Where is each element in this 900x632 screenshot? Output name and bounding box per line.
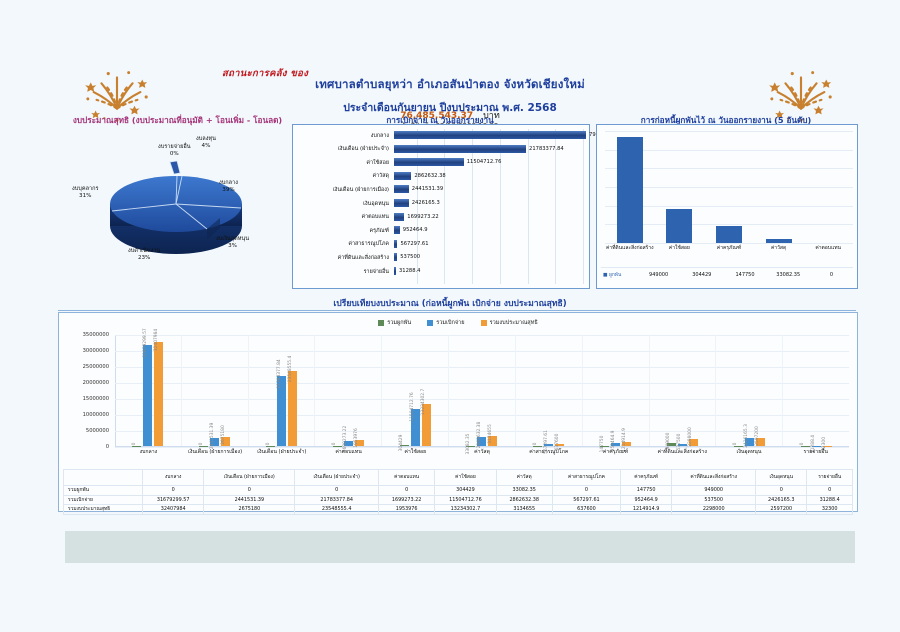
disbursement-row-label: ค่าที่ดินและสิ่งก่อสร้าง (293, 254, 394, 262)
footer-band (65, 531, 855, 563)
bar-value-label: 1953976 (354, 428, 359, 448)
disbursement-bar (394, 158, 464, 166)
bar-fill (143, 345, 152, 446)
table-cell: 0 (552, 486, 620, 496)
disbursement-row: ค่าวัสดุ2862632.38 (293, 171, 585, 182)
bar-group: 031288.432300 (783, 335, 849, 446)
bar-value-label: 2862632.38 (477, 422, 482, 449)
disbursement-value: 567297.61 (400, 240, 428, 248)
pie-label-ngopklang: งบกลาง 39% (219, 180, 238, 194)
bar-value-label: 21783377.84 (277, 360, 282, 389)
disbursement-row-track: 31288.4 (394, 266, 585, 277)
table-cell: 0 (379, 486, 435, 496)
debt-bar (666, 209, 692, 243)
bar-group: 01699273.221953976 (315, 335, 382, 446)
disbursement-value: 31288.4 (399, 267, 420, 275)
table-cell: 33082.35 (496, 486, 552, 496)
table-cell: 11504712.76 (435, 495, 496, 505)
disbursement-row: ครุภัณฑ์952464.9 (293, 225, 585, 236)
disbursement-bar (394, 213, 404, 221)
legend-swatch (427, 320, 433, 326)
comparison-title: เปรียบเทียบงบประมาณ (ก่อหนี้ผูกพัน เบิกจ… (0, 296, 900, 310)
bar: 32407984 (154, 342, 163, 446)
pie-label-damnoen-ngan: งบดำเนินงาน 23% (128, 248, 160, 262)
table-cell: 31288.4 (807, 495, 853, 505)
disbursement-row-track: 2862632.38 (394, 171, 585, 182)
bar-fill (266, 446, 275, 447)
disbursement-row: เงินเดือน (ฝ่ายการเมือง)2441531.39 (293, 184, 585, 195)
bar-value-label: 0 (266, 442, 271, 445)
bar: 23548555.4 (288, 371, 297, 446)
bar-value-label: 32407984 (154, 329, 159, 351)
table-column-header: ค่าครุภัณฑ์ (621, 470, 672, 486)
disbursement-row-label: ค่าวัสดุ (293, 172, 394, 180)
comparison-plot: 031679299.573240798402441531.39267518002… (115, 335, 849, 447)
bar-value-label: 0 (199, 442, 204, 445)
y-tick-label: 20000000 (83, 380, 109, 386)
pie-label-bukkhalakon: งบบุคลากร 31% (72, 186, 99, 200)
table-cell: 949000 (672, 486, 756, 496)
disbursement-row: รายจ่ายอื่น31288.4 (293, 266, 585, 277)
debt-legend-values: 94900030442914775033082.350 (637, 272, 853, 278)
x-tick-label: เงินอุดหนุน (716, 449, 783, 469)
disbursement-row-track: 79299.57 (394, 130, 585, 141)
table-cell: 2298000 (672, 505, 756, 515)
disbursement-value: 2441531.39 (412, 185, 443, 193)
bar: 2298000 (689, 439, 698, 446)
table-row: รวมผูกพัน000030442933082.350147750949000… (64, 486, 853, 496)
disbursement-bar (394, 240, 397, 248)
bar: 21783377.84 (277, 376, 286, 446)
disbursement-row-track: 567297.61 (394, 239, 585, 250)
bar-value-label: 2441531.39 (210, 423, 215, 450)
table-cell: 0 (295, 486, 379, 496)
bar-group: 02441531.392675180 (182, 335, 249, 446)
table-row-header: รวมเบิกจ่าย (64, 495, 143, 505)
y-tick-label: 15000000 (83, 396, 109, 402)
bar: 952464.9 (611, 443, 620, 446)
bar: 1214914.9 (622, 442, 631, 446)
bar: 147750 (600, 446, 609, 447)
bar-value-label: 949000 (666, 433, 671, 450)
pie-panel-title: งบประมาณสุทธิ (งบประมาณที่อนุมัติ + โอนเ… (70, 114, 285, 127)
disbursement-row-track: 537500 (394, 252, 585, 263)
debt-x-label: ค่าวัสดุ (754, 245, 804, 265)
disbursement-row-track: 1699273.22 (394, 212, 585, 223)
bar: 13234302.7 (422, 404, 431, 446)
legend-label: รวมผูกพัน (387, 319, 411, 327)
bar-value-label: 3134655 (488, 424, 493, 444)
bar: 31679299.57 (143, 345, 152, 446)
bar: 1699273.22 (344, 441, 353, 446)
disbursement-bar (394, 267, 396, 275)
table-cell: 304429 (435, 486, 496, 496)
table-column-header: เงินเดือน (ฝ่ายประจำ) (295, 470, 379, 486)
bar: 304429 (400, 445, 409, 446)
debt-bar-chart: ค่าที่ดินและสิ่งก่อสร้างค่าใช้สอยค่าครุภ… (596, 124, 858, 289)
table-cell: 32407984 (143, 505, 204, 515)
bar-value-label: 2426165.3 (744, 424, 749, 448)
gridline (115, 447, 849, 448)
table-cell: 21783377.84 (295, 495, 379, 505)
legend-swatch (378, 320, 384, 326)
disbursement-bar (394, 199, 409, 207)
bar-value-label: 0 (132, 442, 137, 445)
table-cell: 1214914.9 (621, 505, 672, 515)
bar-group: 33082.352862632.383134655 (449, 335, 516, 446)
table-cell: 13234302.7 (435, 505, 496, 515)
legend-label: รวมเบิกจ่าย (436, 319, 464, 327)
table-cell: 2675180 (204, 505, 295, 515)
table-column-header: เงินเดือน (ฝ่ายการเมือง) (204, 470, 295, 486)
bar: 0 (266, 446, 275, 447)
debt-x-label: ค่าที่ดินและสิ่งก่อสร้าง (605, 245, 655, 265)
debt-x-label: ค่าครุภัณฑ์ (704, 245, 754, 265)
debt-x-label: ค่าใช้สอย (655, 245, 705, 265)
y-tick-label: 10000000 (83, 412, 109, 418)
disbursement-bar (394, 172, 411, 180)
disbursement-row: ค่าที่ดินและสิ่งก่อสร้าง537500 (293, 252, 585, 263)
bar-fill (533, 446, 542, 447)
bar: 2862632.38 (477, 437, 486, 446)
disbursement-value: 952464.9 (403, 226, 428, 234)
table-column-header: งบกลาง (143, 470, 204, 486)
comparison-x-labels: งบกลางเงินเดือน (ฝ่ายการเมือง)เงินเดือน … (115, 449, 849, 469)
bar-value-label: 0 (533, 442, 538, 445)
bar-group: 147750952464.91214914.9 (583, 335, 650, 446)
bar-value-label: 23548555.4 (288, 355, 293, 382)
debt-legend-value: 0 (810, 272, 853, 278)
table-cell: 0 (143, 486, 204, 496)
debt-bar (716, 226, 742, 243)
disbursement-row-track: 11504712.76 (394, 157, 585, 168)
bar: 32300 (823, 446, 832, 447)
pie-label-rai-chai-uen: งบรายจ่ายอื่น 0% (158, 144, 191, 158)
pie-label-ngoeun-udnun: งบเงินอุดหนุน 3% (216, 236, 249, 250)
disbursement-row-label: ค่าสาธารณูปโภค (293, 240, 394, 248)
net-budget-pie-chart: งบลงทุน 4% งบรายจ่ายอื่น 0% งบกลาง 39% ง… (70, 128, 285, 283)
bar: 0 (533, 446, 542, 447)
table-cell: 637600 (552, 505, 620, 515)
bar-value-label: 0 (332, 442, 337, 445)
table-row-header: รวมงบประมาณสุทธิ (64, 505, 143, 515)
bar-value-label: 2298000 (688, 427, 693, 447)
bar: 0 (132, 446, 141, 447)
bar-value-label: 2597200 (755, 426, 760, 446)
pie-label-ngoplongthun: งบลงทุน 4% (196, 136, 216, 150)
bar-value-label: 31679299.57 (143, 328, 148, 357)
comparison-legend: รวมผูกพันรวมเบิกจ่ายรวมงบประมาณสุทธิ (59, 317, 857, 329)
disbursement-row-track: 2426165.3 (394, 198, 585, 209)
bar: 949000 (667, 443, 676, 446)
disbursement-value: 1699273.22 (407, 213, 438, 221)
table-column-header: ค่าใช้สอย (435, 470, 496, 486)
x-tick-label: ค่าใช้สอย (382, 449, 449, 469)
bar: 0 (734, 446, 743, 447)
comparison-rule (58, 310, 856, 311)
table-cell: 537500 (672, 495, 756, 505)
bar-fill (801, 446, 810, 447)
bar-fill (199, 446, 208, 447)
bar: 2675180 (221, 437, 230, 446)
debt-legend-row: ■ ผูกพัน 94900030442914775033082.350 (601, 267, 853, 282)
table-cell: 0 (756, 486, 807, 496)
page-title: เทศบาลตำบลยุหว่า อำเภอสันป่าตอง จังหวัดเ… (0, 76, 900, 94)
disbursement-row: เงินอุดหนุน2426165.3 (293, 198, 585, 209)
x-tick-label: เงินเดือน (ฝ่ายประจำ) (248, 449, 315, 469)
disbursement-value: 537500 (400, 253, 420, 261)
debt-legend-value: 949000 (637, 272, 680, 278)
bar: 1953976 (355, 440, 364, 446)
bar: 0 (333, 446, 342, 447)
table-cell: 2441531.39 (204, 495, 295, 505)
bar-fill (154, 342, 163, 446)
x-tick-label: รายจ่ายอื่น (782, 449, 849, 469)
y-tick-label: 30000000 (83, 348, 109, 354)
x-tick-label: เงินเดือน (ฝ่ายการเมือง) (182, 449, 249, 469)
disbursement-row-label: ค่าใช้สอย (293, 159, 394, 167)
disbursement-row: งบกลาง79299.57 (293, 130, 585, 141)
bar: 3134655 (488, 436, 497, 446)
debt-column (704, 131, 754, 243)
disbursement-row: ค่าตอบแทน1699273.22 (293, 212, 585, 223)
table-cell: 147750 (621, 486, 672, 496)
table-cell: 952464.9 (621, 495, 672, 505)
bar-fill (734, 446, 743, 447)
debt-columns (605, 131, 853, 243)
bar: 31288.4 (812, 446, 821, 447)
bar-fill (333, 446, 342, 447)
debt-legend-value: 304429 (680, 272, 723, 278)
debt-plot (605, 131, 853, 243)
table-corner-cell (64, 470, 143, 486)
comparison-chart-panel: รวมผูกพันรวมเบิกจ่ายรวมงบประมาณสุทธิ 050… (58, 312, 858, 512)
table-row-header: รวมผูกพัน (64, 486, 143, 496)
bar: 637600 (555, 444, 564, 446)
bar: 0 (801, 446, 810, 447)
legend-item: รวมผูกพัน (378, 319, 411, 327)
table-row: รวมงบประมาณสุทธิ32407984267518023548555.… (64, 505, 853, 515)
bar-fill (132, 446, 141, 447)
x-tick-label: งบกลาง (115, 449, 182, 469)
disbursement-row-track: 952464.9 (394, 225, 585, 236)
comparison-bar-groups: 031679299.573240798402441531.39267518002… (115, 335, 849, 446)
disbursement-value: 2426165.3 (412, 199, 440, 207)
table-cell: 2862632.38 (496, 495, 552, 505)
bar-group: 031679299.5732407984 (115, 335, 182, 446)
disbursement-row-label: งบกลาง (293, 132, 394, 140)
x-tick-label: ค่าที่ดินและสิ่งก่อสร้าง (649, 449, 716, 469)
table-cell: 1953976 (379, 505, 435, 515)
table-cell: 2597200 (756, 505, 807, 515)
bar: 2441531.39 (210, 438, 219, 446)
comparison-y-axis: 0500000010000000150000002000000025000000… (59, 335, 113, 447)
debt-legend-key: ■ ผูกพัน (601, 271, 637, 279)
debt-bar (766, 239, 792, 243)
y-tick-label: 0 (106, 444, 109, 450)
debt-column (655, 131, 705, 243)
gridline (605, 243, 853, 244)
table-cell: 3134655 (496, 505, 552, 515)
disbursement-bar (394, 226, 400, 234)
bar: 2426165.3 (745, 438, 754, 446)
disbursement-row: ค่าใช้สอย11504712.76 (293, 157, 585, 168)
disbursement-row-track: 2441531.39 (394, 184, 585, 195)
disbursement-row: ค่าสาธารณูปโภค567297.61 (293, 239, 585, 250)
debt-x-label: ค่าตอบแทน (803, 245, 853, 265)
table-column-header: รายจ่ายอื่น (807, 470, 853, 486)
debt-column (605, 131, 655, 243)
table-cell: 567297.61 (552, 495, 620, 505)
bar-value-label: 2675180 (221, 426, 226, 446)
table-cell: 0 (807, 486, 853, 496)
y-tick-label: 25000000 (83, 364, 109, 370)
report-header: สถานะการคลัง ของ เทศบาลตำบลยุหว่า อำเภอส… (0, 26, 900, 116)
table-cell: 0 (204, 486, 295, 496)
bar-value-label: 13234302.7 (421, 388, 426, 415)
table-body: รวมผูกพัน000030442933082.350147750949000… (64, 486, 853, 515)
bar-group: 0567297.61637600 (516, 335, 583, 446)
x-tick-label: ค่าครุภัณฑ์ (582, 449, 649, 469)
disbursement-bar-chart: งบกลาง79299.57เงินเดือน (ฝ่ายประจำ)21783… (292, 124, 590, 289)
legend-swatch (481, 320, 487, 326)
bar-value-label: 637600 (555, 434, 560, 451)
legend-item: รวมเบิกจ่าย (427, 319, 464, 327)
table-column-header: ค่าวัสดุ (496, 470, 552, 486)
y-tick-label: 35000000 (83, 332, 109, 338)
report-page: สถานะการคลัง ของ เทศบาลตำบลยุหว่า อำเภอส… (0, 0, 900, 632)
table-row: รวมเบิกจ่าย31679299.572441531.3921783377… (64, 495, 853, 505)
debt-column (803, 131, 853, 243)
bar: 0 (199, 446, 208, 447)
disbursement-bar (394, 253, 397, 261)
bar: 2597200 (756, 438, 765, 446)
bar: 567297.61 (544, 444, 553, 446)
comparison-data-table: งบกลางเงินเดือน (ฝ่ายการเมือง)เงินเดือน … (63, 469, 853, 515)
table-cell: 1699273.22 (379, 495, 435, 505)
bar-group: 021783377.8423548555.4 (249, 335, 316, 446)
disbursement-row-track: 21783377.84 (394, 144, 585, 155)
disbursement-row-label: ครุภัณฑ์ (293, 227, 394, 235)
disbursement-row-label: เงินอุดหนุน (293, 200, 394, 208)
y-tick-label: 5000000 (86, 428, 109, 434)
bar: 537500 (678, 444, 687, 446)
debt-column (754, 131, 804, 243)
bar-group: 02426165.32597200 (716, 335, 783, 446)
table-column-header: เงินอุดหนุน (756, 470, 807, 486)
bar-value-label: 11504712.76 (410, 393, 415, 422)
table-cell: 23548555.4 (295, 505, 379, 515)
table-cell: 31679299.57 (143, 495, 204, 505)
x-tick-label: ค่าตอบแทน (315, 449, 382, 469)
debt-legend-value: 147750 (723, 272, 766, 278)
disbursement-bar (394, 131, 586, 139)
debt-legend-value: 33082.35 (767, 272, 810, 278)
disbursement-row-label: ค่าตอบแทน (293, 213, 394, 221)
bar-value-label: 0 (733, 442, 738, 445)
disbursement-row-label: เงินเดือน (ฝ่ายประจำ) (293, 145, 394, 153)
table-header-row: งบกลางเงินเดือน (ฝ่ายการเมือง)เงินเดือน … (64, 470, 853, 486)
legend-item: รวมงบประมาณสุทธิ (481, 319, 538, 327)
x-tick-label: ค่าสาธารณูปโภค (515, 449, 582, 469)
bar-group: 30442911504712.7613234302.7 (382, 335, 449, 446)
bar: 33082.35 (466, 446, 475, 447)
table-column-header: ค่าสาธารณูปโภค (552, 470, 620, 486)
disbursement-row: เงินเดือน (ฝ่ายประจำ)21783377.84 (293, 144, 585, 155)
disbursement-bar (394, 145, 526, 153)
disbursement-bar (394, 185, 409, 193)
disbursement-row-label: รายจ่ายอื่น (293, 268, 394, 276)
bar-value-label: 0 (800, 442, 805, 445)
debt-x-labels: ค่าที่ดินและสิ่งก่อสร้างค่าใช้สอยค่าครุภ… (605, 245, 853, 265)
x-tick-label: ค่าวัสดุ (449, 449, 516, 469)
bar-value-label: 1699273.22 (343, 425, 348, 452)
table-cell: 2426165.3 (756, 495, 807, 505)
bar: 11504712.76 (411, 409, 420, 446)
debt-bar (617, 137, 643, 243)
disbursement-row-label: เงินเดือน (ฝ่ายการเมือง) (293, 186, 394, 194)
disbursement-value: 11504712.76 (467, 158, 502, 166)
bar-group: 9490005375002298000 (650, 335, 717, 446)
legend-label: รวมงบประมาณสุทธิ (490, 319, 538, 327)
disbursement-value: 21783377.84 (529, 145, 564, 153)
disbursement-value: 2862632.38 (414, 172, 445, 180)
table-cell: 32300 (807, 505, 853, 515)
table-column-header: ค่าตอบแทน (379, 470, 435, 486)
table-column-header: ค่าที่ดินและสิ่งก่อสร้าง (672, 470, 756, 486)
